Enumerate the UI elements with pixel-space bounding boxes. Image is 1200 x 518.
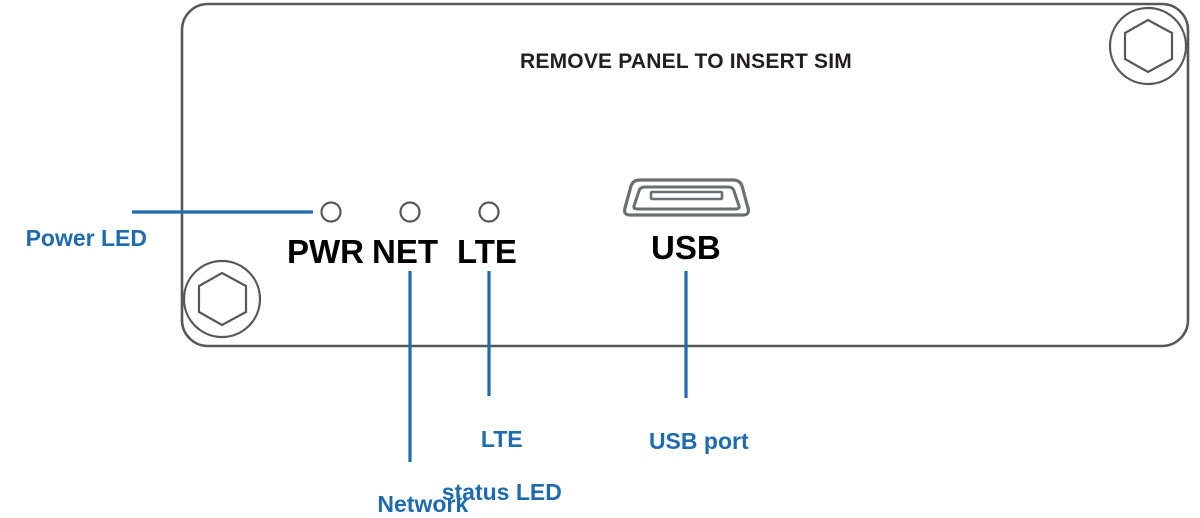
callout-power-led-line1: Power LED (26, 225, 147, 251)
bottom-left-hex-screw (184, 261, 260, 337)
led-indicator-pwr (322, 203, 341, 222)
micro-usb-port-icon (625, 180, 749, 215)
indicator-label-net: NET (372, 233, 438, 271)
port-label-usb: USB (651, 229, 721, 267)
callout-usb-port-line1: USB port (649, 428, 749, 454)
callout-lte-status-led-line2: status LED (442, 479, 562, 505)
panel-title: REMOVE PANEL TO INSERT SIM (0, 50, 1200, 74)
callout-lte-status-led-line1: LTE (481, 426, 523, 452)
callout-lte-status-led: LTE status LED (389, 400, 589, 518)
led-indicator-lte (480, 203, 499, 222)
led-indicator-net (401, 203, 420, 222)
callout-usb-port: USB port (586, 402, 786, 481)
diagram-canvas: REMOVE PANEL TO INSERT SIM PWR NET LTE U… (0, 0, 1200, 518)
callout-power-led: Power LED (0, 199, 126, 278)
indicator-label-lte: LTE (457, 233, 517, 271)
indicator-label-pwr: PWR (287, 233, 364, 271)
